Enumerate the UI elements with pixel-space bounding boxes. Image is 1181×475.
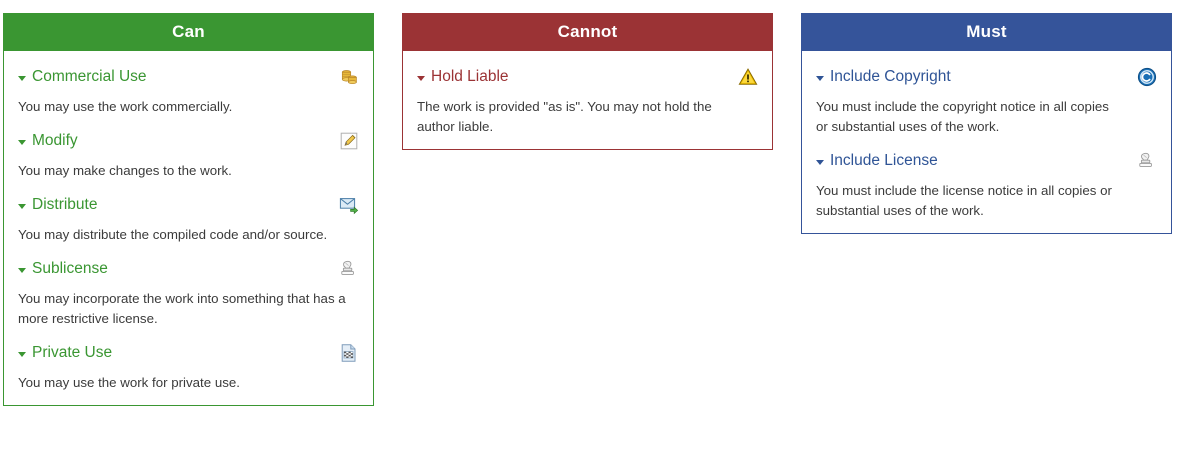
- rule-toggle-sublicense[interactable]: Sublicense: [18, 259, 108, 279]
- chevron-down-icon: [18, 140, 26, 145]
- rule-description: You may distribute the compiled code and…: [18, 225, 353, 245]
- rule-header-row: Modify: [18, 131, 359, 151]
- rule-description: You may incorporate the work into someth…: [18, 289, 353, 329]
- rule-toggle-private-use[interactable]: Private Use: [18, 343, 112, 363]
- chevron-down-icon: [18, 268, 26, 273]
- rule-item: Include LicenseYou must include the lice…: [816, 137, 1157, 221]
- panel-header-cannot: Cannot: [402, 13, 773, 51]
- panel-body-must: Include CopyrightYou must include the co…: [801, 51, 1172, 234]
- rule-item: DistributeYou may distribute the compile…: [18, 181, 359, 245]
- chevron-down-icon: [18, 352, 26, 357]
- envelope-send-icon: [339, 195, 359, 215]
- rule-label: Include Copyright: [830, 67, 951, 87]
- rule-description: You may use the work commercially.: [18, 97, 353, 117]
- rule-item: Private UseYou may use the work for priv…: [18, 329, 359, 393]
- rule-item: SublicenseYou may incorporate the work i…: [18, 245, 359, 329]
- rule-label: Modify: [32, 131, 78, 151]
- stamp-icon: [339, 259, 359, 279]
- chevron-down-icon: [18, 204, 26, 209]
- panel-body-can: Commercial UseYou may use the work comme…: [3, 51, 374, 406]
- rule-description: You may make changes to the work.: [18, 161, 353, 181]
- rule-label: Distribute: [32, 195, 97, 215]
- rule-label: Include License: [830, 151, 938, 171]
- panel-must: MustInclude CopyrightYou must include th…: [801, 13, 1172, 234]
- rule-header-row: Include Copyright: [816, 67, 1157, 87]
- rule-description: The work is provided "as is". You may no…: [417, 97, 747, 137]
- rule-header-row: Sublicense: [18, 259, 359, 279]
- rule-toggle-hold-liable[interactable]: Hold Liable: [417, 67, 509, 87]
- panel-header-can: Can: [3, 13, 374, 51]
- rule-item: ModifyYou may make changes to the work.: [18, 117, 359, 181]
- rule-toggle-distribute[interactable]: Distribute: [18, 195, 97, 215]
- pencil-edit-icon: [339, 131, 359, 151]
- rule-item: Include CopyrightYou must include the co…: [816, 61, 1157, 137]
- rule-description: You must include the license notice in a…: [816, 181, 1122, 221]
- rule-toggle-include-copyright[interactable]: Include Copyright: [816, 67, 951, 87]
- license-summary-board: CanCommercial UseYou may use the work co…: [0, 0, 1181, 406]
- chevron-down-icon: [816, 160, 824, 165]
- stamp-icon: [1137, 151, 1157, 171]
- coins-icon: [339, 67, 359, 87]
- rule-header-row: Include License: [816, 151, 1157, 171]
- chevron-down-icon: [816, 76, 824, 81]
- rule-toggle-modify[interactable]: Modify: [18, 131, 78, 151]
- panel-body-cannot: Hold LiableThe work is provided "as is".…: [402, 51, 773, 150]
- rule-label: Commercial Use: [32, 67, 147, 87]
- rule-label: Private Use: [32, 343, 112, 363]
- panel-header-must: Must: [801, 13, 1172, 51]
- rule-header-row: Hold Liable: [417, 67, 758, 87]
- rule-label: Sublicense: [32, 259, 108, 279]
- rule-description: You must include the copyright notice in…: [816, 97, 1122, 137]
- rule-description: You may use the work for private use.: [18, 373, 353, 393]
- rule-item: Commercial UseYou may use the work comme…: [18, 61, 359, 117]
- rule-label: Hold Liable: [431, 67, 509, 87]
- rule-header-row: Private Use: [18, 343, 359, 363]
- warning-triangle-icon: [738, 67, 758, 87]
- chevron-down-icon: [18, 76, 26, 81]
- panel-can: CanCommercial UseYou may use the work co…: [3, 13, 374, 406]
- rule-header-row: Commercial Use: [18, 67, 359, 87]
- rule-toggle-include-license[interactable]: Include License: [816, 151, 938, 171]
- document-page-icon: [339, 343, 359, 363]
- copyright-icon: [1137, 67, 1157, 87]
- rule-toggle-commercial-use[interactable]: Commercial Use: [18, 67, 147, 87]
- rule-header-row: Distribute: [18, 195, 359, 215]
- rule-item: Hold LiableThe work is provided "as is".…: [417, 61, 758, 137]
- panel-cannot: CannotHold LiableThe work is provided "a…: [402, 13, 773, 150]
- chevron-down-icon: [417, 76, 425, 81]
